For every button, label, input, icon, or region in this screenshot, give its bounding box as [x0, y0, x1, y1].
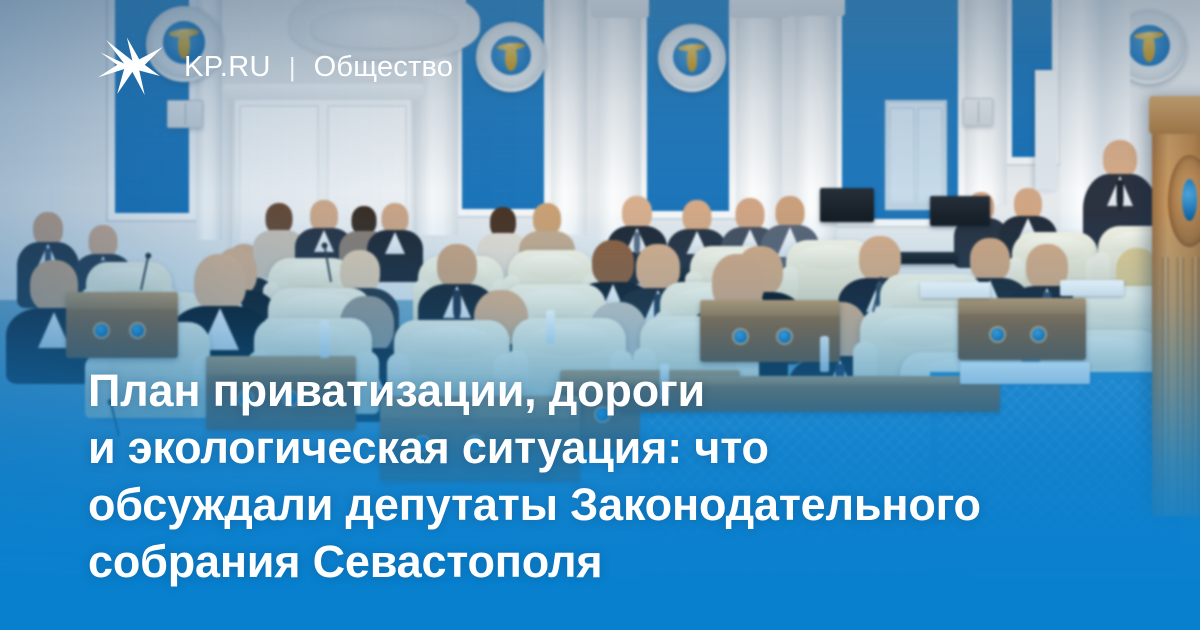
- share-card: KP.RU | Общество План приватизации, доро…: [0, 0, 1200, 630]
- swallow-bird-logo-icon[interactable]: [96, 36, 166, 98]
- header: KP.RU | Общество: [96, 36, 453, 98]
- headline-line-1: План приватизации, дороги: [88, 362, 1123, 419]
- headline-line-3: обсуждали депутаты Законодательного: [88, 476, 1123, 533]
- headline-line-2: и экологическая ситуация: что: [88, 419, 1123, 476]
- page-title: План приватизации, дороги и экологическа…: [88, 362, 1123, 590]
- brand-separator: |: [289, 52, 296, 83]
- headline-line-4: собрания Севастополя: [88, 533, 1123, 590]
- rubric-label[interactable]: Общество: [314, 51, 453, 84]
- brand-label[interactable]: KP.RU: [184, 51, 271, 84]
- brand-row: KP.RU | Общество: [184, 51, 453, 84]
